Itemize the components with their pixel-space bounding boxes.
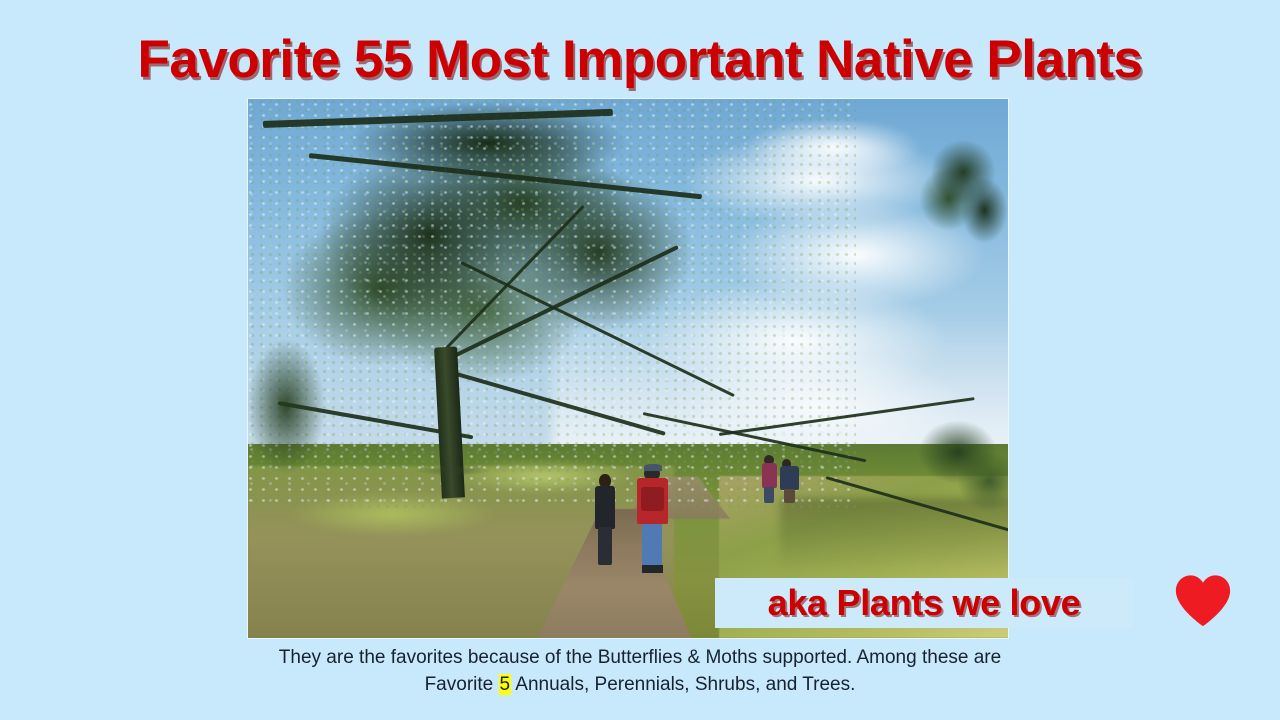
hiker-red-backpack [636,466,669,574]
heart-icon [1172,570,1234,632]
right-foliage-upper [826,110,1008,326]
photo-scene [248,99,1008,638]
caption-highlight-number: 5 [499,674,512,695]
caption-line2-after: Annuals, Perennials, Shrubs, and Trees. [511,674,855,695]
aka-plants-we-love-text: aka Plants we love [768,582,1081,624]
slide-canvas: Favorite 55 Most Important Native Plants [0,0,1280,720]
right-foliage-lower [810,379,1008,562]
page-title: Favorite 55 Most Important Native Plants [0,30,1280,89]
trunk-base [415,466,491,515]
left-foliage [248,315,339,498]
hiker-distant-right [780,457,800,503]
caption: They are the favorites because of the Bu… [0,645,1280,699]
hiker-distant-left [761,455,778,504]
caption-line-1: They are the favorites because of the Bu… [0,645,1280,672]
caption-line-2: Favorite 5 Annuals, Perennials, Shrubs, … [0,672,1280,699]
caption-line2-before: Favorite [425,674,499,695]
aka-plants-we-love-box: aka Plants we love [715,578,1133,628]
hiker-dark [594,474,617,566]
landscape-photo [248,99,1008,638]
